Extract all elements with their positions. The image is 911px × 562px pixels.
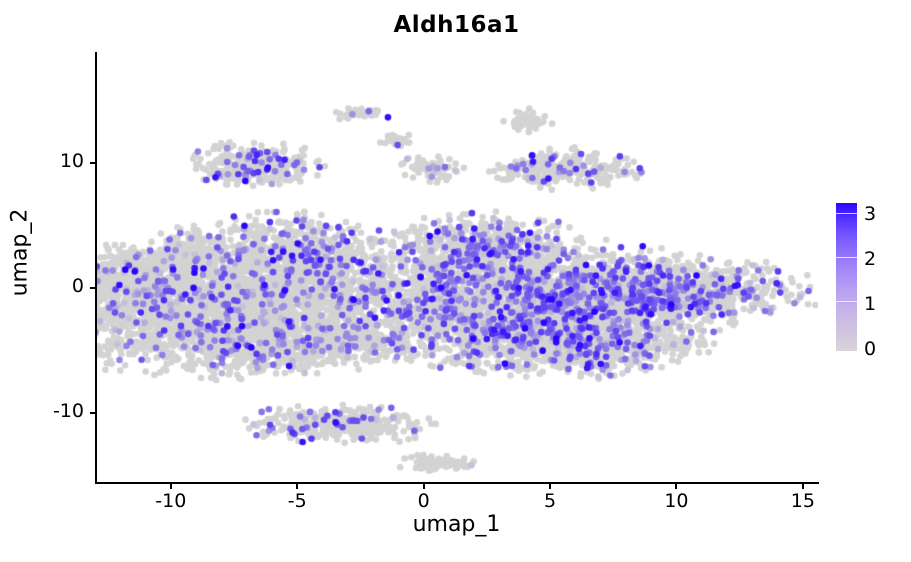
x-tick-label: 5	[520, 490, 580, 512]
colorbar-label: 3	[864, 203, 876, 225]
y-tick-mark	[90, 162, 95, 164]
x-tick-mark	[423, 484, 425, 489]
x-tick-mark	[170, 484, 172, 489]
umap-feature-plot: Aldh16a1 -10-5051015 -10010 umap_1 umap_…	[0, 0, 911, 562]
colorbar	[836, 203, 857, 351]
x-tick-mark	[549, 484, 551, 489]
x-tick-label: 10	[646, 490, 706, 512]
x-tick-label: -10	[141, 490, 201, 512]
colorbar-tick-3	[836, 213, 857, 214]
scatter-points-canvas	[95, 52, 818, 483]
y-axis-label: umap_2	[8, 173, 33, 333]
colorbar-gradient	[836, 203, 857, 351]
x-axis-spine	[95, 482, 819, 484]
x-tick-label: 0	[394, 490, 454, 512]
y-axis-spine	[95, 52, 97, 484]
y-tick-label: -10	[14, 400, 84, 422]
colorbar-label: 2	[864, 248, 876, 270]
page-title: Aldh16a1	[95, 12, 818, 38]
x-tick-label: 15	[773, 490, 833, 512]
x-tick-mark	[296, 484, 298, 489]
colorbar-label: 0	[864, 338, 876, 360]
y-tick-label: 10	[14, 150, 84, 172]
x-tick-mark	[802, 484, 804, 489]
colorbar-label: 1	[864, 293, 876, 315]
y-tick-mark	[90, 287, 95, 289]
x-axis-label: umap_1	[95, 512, 818, 537]
y-tick-mark	[90, 412, 95, 414]
x-tick-mark	[675, 484, 677, 489]
x-tick-label: -5	[267, 490, 327, 512]
colorbar-tick-2	[836, 257, 857, 258]
plot-axes-area	[95, 52, 818, 483]
colorbar-tick-1	[836, 301, 857, 302]
